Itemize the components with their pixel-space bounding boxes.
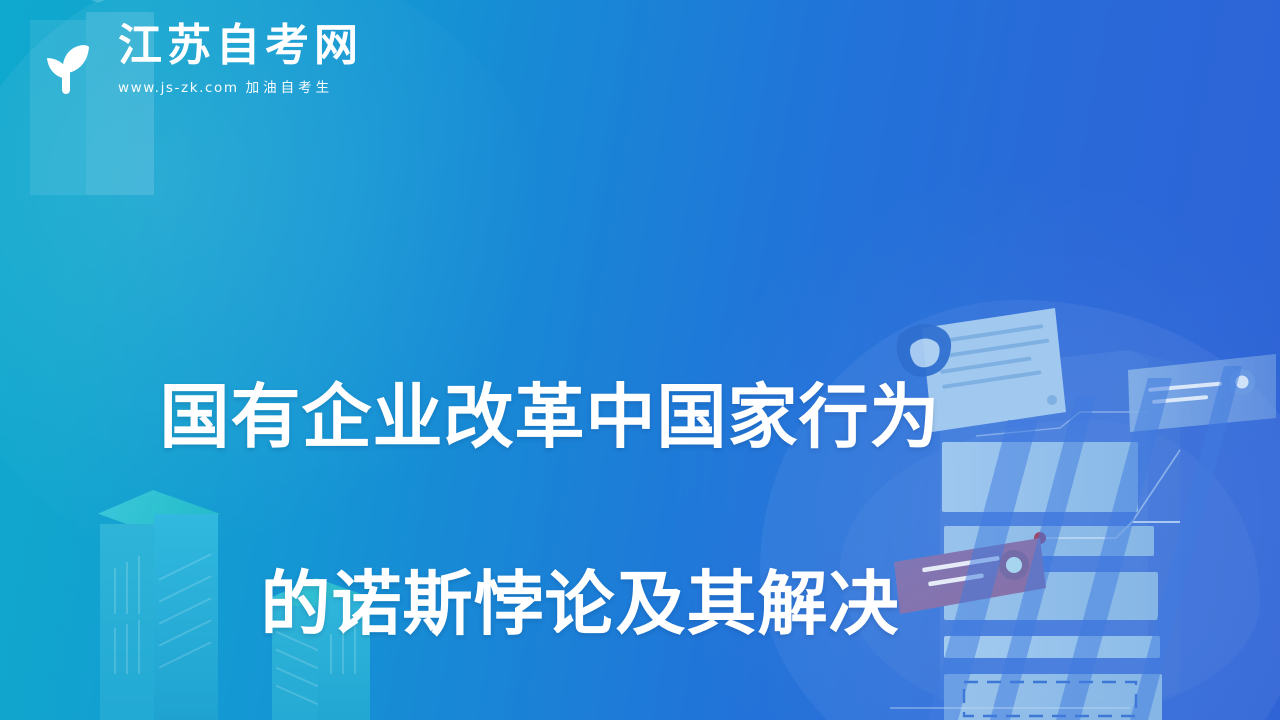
sprout-icon: [26, 20, 104, 98]
logo-title: 江苏自考网: [118, 22, 363, 70]
tilted-banner-card: [1128, 354, 1276, 432]
hero-banner: 江苏自考网 www.js-zk.com加油自考生 国有企业改革中国家行为 的诺斯…: [0, 0, 1280, 720]
page-title: 国有企业改革中国家行为 的诺斯悖论及其解决: [0, 276, 1100, 720]
site-logo[interactable]: 江苏自考网 www.js-zk.com加油自考生: [26, 20, 363, 98]
page-title-line-2: 的诺斯悖论及其解决: [0, 557, 1100, 651]
logo-subtitle: www.js-zk.com加油自考生: [118, 76, 363, 96]
logo-url: www.js-zk.com: [118, 80, 239, 96]
page-title-line-1: 国有企业改革中国家行为: [0, 370, 1100, 464]
logo-slogan: 加油自考生: [246, 80, 334, 96]
